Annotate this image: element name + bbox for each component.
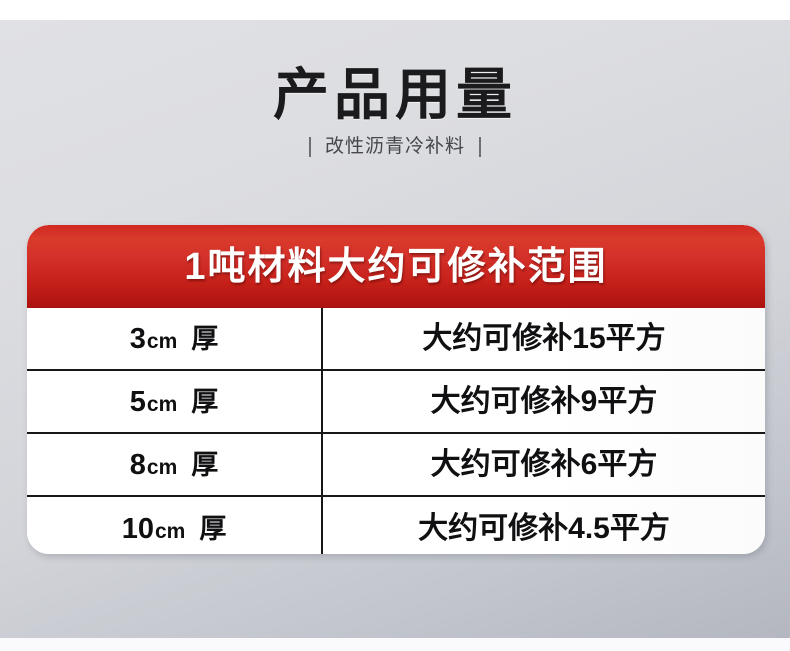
table-row: 10 cm 厚 大约可修补4.5平方 (27, 497, 765, 554)
thickness-label: 10 cm 厚 (122, 513, 227, 545)
thickness-value: 5 (130, 386, 146, 418)
table-row: 3 cm 厚 大约可修补15平方 (27, 308, 765, 371)
thickness-word: 厚 (199, 514, 226, 544)
coverage-label: 大约可修补9平方 (431, 385, 658, 419)
usage-table-header-title: 1吨材料大约可修补范围 (184, 246, 607, 288)
usage-table-card: 1吨材料大约可修补范围 3 cm 厚 大约可修补15平方 5 (27, 225, 765, 554)
thickness-label: 3 cm 厚 (130, 323, 219, 355)
table-cell-coverage: 大约可修补6平方 (323, 434, 765, 495)
thickness-unit: cm (147, 456, 177, 480)
subtitle-row: 改性沥青冷补料 (0, 136, 790, 158)
table-cell-coverage: 大约可修补15平方 (323, 308, 765, 369)
thickness-value: 3 (130, 323, 146, 355)
table-cell-thickness: 3 cm 厚 (27, 308, 323, 369)
coverage-label: 大约可修补15平方 (422, 322, 665, 356)
coverage-label: 大约可修补6平方 (431, 448, 658, 482)
thickness-value: 8 (130, 449, 146, 481)
table-cell-thickness: 5 cm 厚 (27, 371, 323, 432)
table-cell-coverage: 大约可修补4.5平方 (323, 497, 765, 554)
thickness-word: 厚 (191, 387, 218, 417)
coverage-label: 大约可修补4.5平方 (418, 512, 670, 546)
thickness-value: 10 (122, 513, 154, 545)
thickness-unit: cm (147, 393, 177, 417)
thickness-label: 5 cm 厚 (130, 386, 219, 418)
table-row: 8 cm 厚 大约可修补6平方 (27, 434, 765, 497)
page-title: 产品用量 (0, 62, 790, 128)
subtitle-right-bar-icon (479, 137, 481, 157)
thickness-unit: cm (155, 520, 185, 544)
table-cell-thickness: 8 cm 厚 (27, 434, 323, 495)
bottom-white-margin (0, 638, 790, 651)
thickness-word: 厚 (191, 324, 218, 354)
thickness-unit: cm (147, 330, 177, 354)
page-subtitle: 改性沥青冷补料 (325, 136, 465, 158)
usage-table-header: 1吨材料大约可修补范围 (27, 225, 765, 308)
thickness-label: 8 cm 厚 (130, 449, 219, 481)
table-cell-thickness: 10 cm 厚 (27, 497, 323, 554)
product-usage-infographic: 产品用量 改性沥青冷补料 1吨材料大约可修补范围 3 cm 厚 大约可修补 (0, 0, 790, 651)
usage-table: 3 cm 厚 大约可修补15平方 5 cm 厚 (27, 308, 765, 554)
thickness-word: 厚 (191, 450, 218, 480)
heading-block: 产品用量 改性沥青冷补料 (0, 62, 790, 158)
table-row: 5 cm 厚 大约可修补9平方 (27, 371, 765, 434)
subtitle-left-bar-icon (309, 137, 311, 157)
table-cell-coverage: 大约可修补9平方 (323, 371, 765, 432)
top-white-margin (0, 0, 790, 20)
